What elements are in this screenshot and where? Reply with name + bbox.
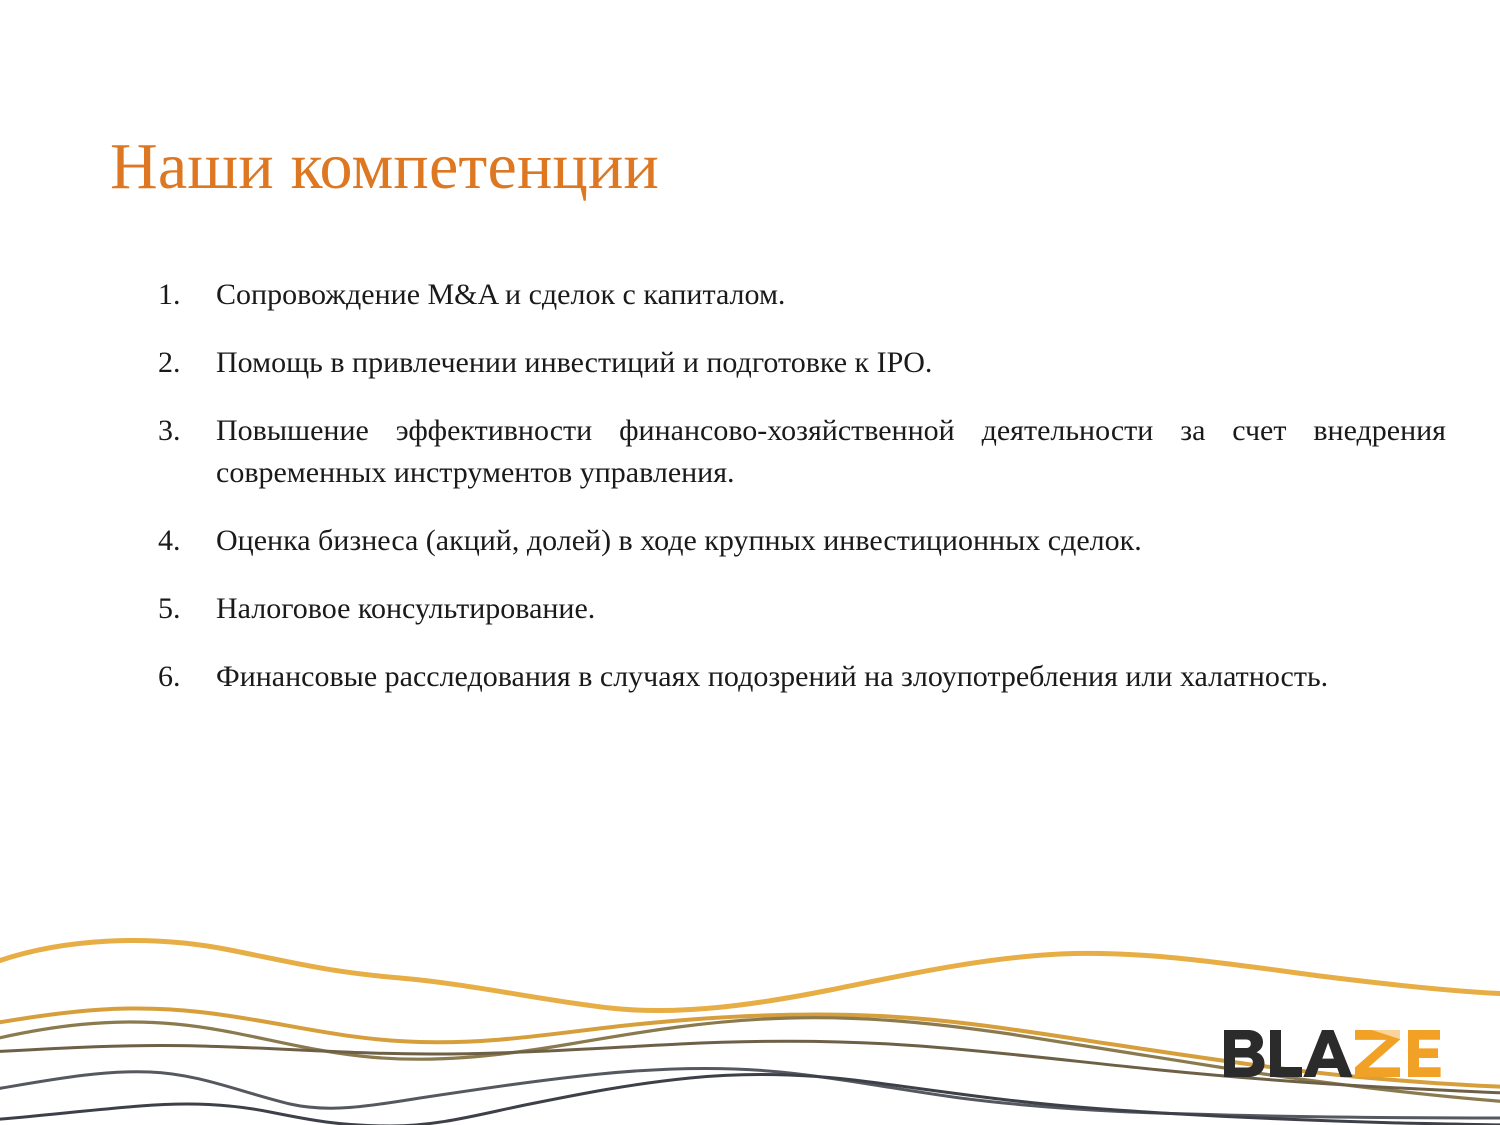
list-item: 2. Помощь в привлечении инвестиций и под… [158,342,1446,384]
list-item-text: Налоговое консультирование. [216,588,1446,630]
list-item-text: Сопровождение M&A и сделок с капиталом. [216,274,1446,316]
logo-letter-z-bottom [1355,1030,1400,1077]
page-title: Наши компетенции [110,132,659,202]
list-item-number: 5. [158,588,216,630]
logo-letter-b [1224,1030,1265,1077]
slide-canvas: Наши компетенции 1. Сопровождение M&A и … [0,0,1500,1125]
logo-letter-l [1270,1030,1302,1077]
blaze-logo [1222,1026,1442,1088]
list-item-text: Помощь в привлечении инвестиций и подгот… [216,342,1446,384]
list-item-number: 2. [158,342,216,384]
competencies-list: 1. Сопровождение M&A и сделок с капитало… [118,274,1446,698]
list-item-number: 3. [158,410,216,452]
list-item-text: Повышение эффективности финансово-хозяйс… [216,410,1446,494]
list-item-number: 6. [158,656,216,698]
wave-line-amber [0,941,1500,1011]
list-item-number: 1. [158,274,216,316]
list-item: 6. Финансовые расследования в случаях по… [158,656,1446,698]
list-item-number: 4. [158,520,216,562]
list-item: 5. Налоговое консультирование. [158,588,1446,630]
list-item: 4. Оценка бизнеса (акций, долей) в ходе … [158,520,1446,562]
wave-lines-decoration [0,920,1500,1125]
list-item: 3. Повышение эффективности финансово-хоз… [158,410,1446,494]
logo-letter-e [1408,1030,1441,1077]
list-item-text: Оценка бизнеса (акций, долей) в ходе кру… [216,520,1446,562]
list-item: 1. Сопровождение M&A и сделок с капитало… [158,274,1446,316]
list-item-text: Финансовые расследования в случаях подоз… [216,656,1446,698]
logo-letter-a [1303,1030,1352,1077]
